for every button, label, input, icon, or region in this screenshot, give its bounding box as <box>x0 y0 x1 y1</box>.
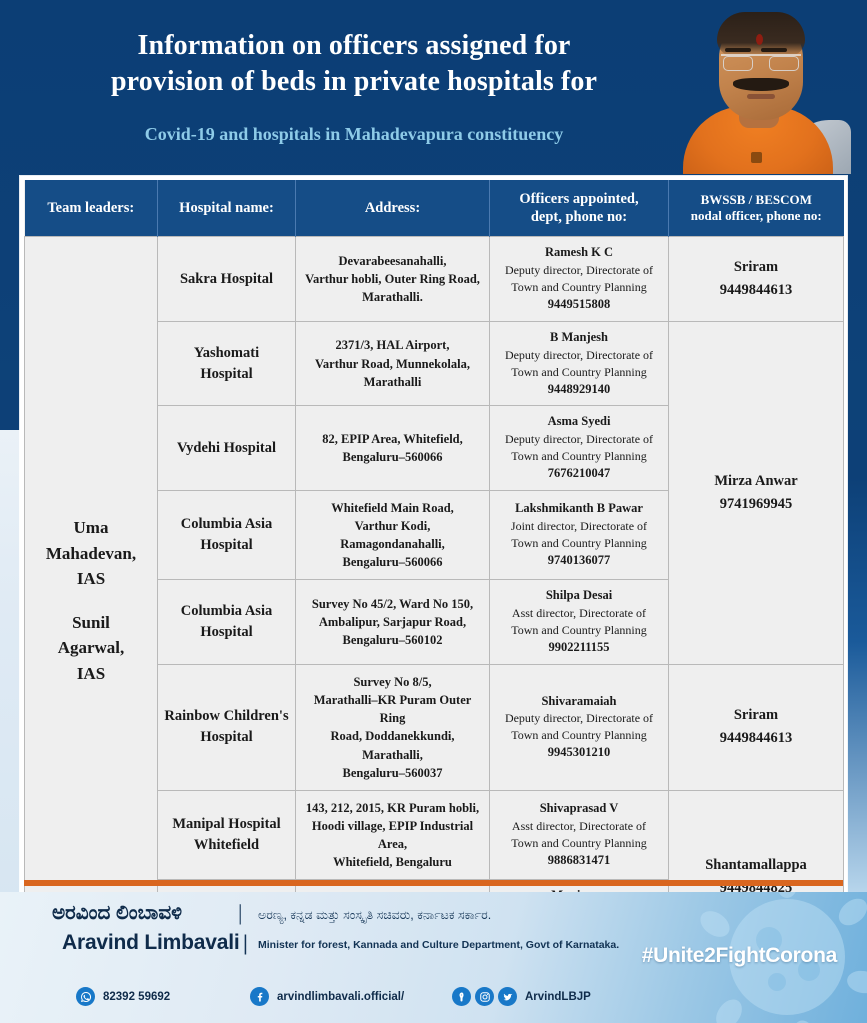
cell-hospital-name: Columbia Asia Hospital <box>158 490 296 580</box>
whatsapp-icon <box>76 987 95 1006</box>
officer-name: Asma Syedi <box>495 413 663 431</box>
column-header-team-leaders: Team leaders: <box>25 180 158 237</box>
column-header-nodal-officer: BWSSB / BESCOM nodal officer, phone no: <box>669 180 844 237</box>
officer-phone: 9902211155 <box>495 639 663 657</box>
contact-row: 82392 59692 arvindlimbavali.official/ <box>0 987 867 1017</box>
cell-hospital-name: Vydehi Hospital <box>158 406 296 491</box>
nodal-officer-name: Sriram <box>670 704 842 727</box>
column-header-address: Address: <box>296 180 490 237</box>
portrait-badge <box>751 152 762 163</box>
officer-dept-line2: Town and Country Planning <box>495 727 663 744</box>
officer-name: Ramesh K C <box>495 244 663 262</box>
cell-hospital-name: Yashomati Hospital <box>158 321 296 406</box>
table-row: Uma Mahadevan, IAS Sunil Agarwal, IAS Sa… <box>25 237 844 322</box>
officer-dept-line2: Town and Country Planning <box>495 835 663 852</box>
cell-nodal-officer: Mirza Anwar 9741969945 <box>669 321 844 664</box>
column-header-officers: Officers appointed, dept, phone no: <box>490 180 669 237</box>
cell-address: Devarabeesanahalli, Varthur hobli, Outer… <box>296 237 490 322</box>
footer: ಅರವಿಂದ ಲಿಂಬಾವಳಿ | ಅರಣ್ಯ, ಕನ್ನಡ ಮತ್ತು ಸಂಸ… <box>0 892 867 1023</box>
koo-icon <box>452 987 471 1006</box>
cell-hospital-name: Rainbow Children's Hospital <box>158 665 296 791</box>
portrait-eyebrow-right <box>761 48 787 52</box>
facebook-handle: arvindlimbavali.official/ <box>277 991 404 1003</box>
cell-address: Whitefield Main Road, Varthur Kodi, Rama… <box>296 490 490 580</box>
officer-dept-line2: Town and Country Planning <box>495 279 663 296</box>
cell-officer: Shivaramaiah Deputy director, Directorat… <box>490 665 669 791</box>
cell-nodal-officer: Sriram 9449844613 <box>669 237 844 322</box>
team-leader-1: Uma Mahadevan, IAS <box>26 515 156 592</box>
nodal-officer-name: Sriram <box>670 256 842 279</box>
footer-separator-bottom: | <box>243 930 248 956</box>
officer-dept-line2: Town and Country Planning <box>495 622 663 639</box>
officer-phone: 9740136077 <box>495 552 663 570</box>
cell-hospital-name: Columbia Asia Hospital <box>158 580 296 665</box>
minister-name-english: Aravind Limbavali <box>62 931 240 955</box>
cell-address: Survey No 8/5, Marathalli–KR Puram Outer… <box>296 665 490 791</box>
officer-phone: 9449515808 <box>495 296 663 314</box>
cell-officer: B Manjesh Deputy director, Directorate o… <box>490 321 669 406</box>
cell-officer: Ramesh K C Deputy director, Directorate … <box>490 237 669 322</box>
cell-hospital-name: Sakra Hospital <box>158 237 296 322</box>
officer-dept-line2: Town and Country Planning <box>495 364 663 381</box>
cell-address: Survey No 45/2, Ward No 150, Ambalipur, … <box>296 580 490 665</box>
officer-phone: 9945301210 <box>495 744 663 762</box>
portrait-glasses <box>721 54 801 69</box>
contact-facebook[interactable]: arvindlimbavali.official/ <box>250 987 404 1006</box>
officer-dept-line1: Deputy director, Directorate of <box>495 431 663 448</box>
orange-divider <box>24 880 843 886</box>
social-group-icon <box>452 987 517 1006</box>
officer-dept-line1: Joint director, Directorate of <box>495 518 663 535</box>
page-subtitle: Covid-19 and hospitals in Mahadevapura c… <box>34 124 674 145</box>
minister-name-kannada: ಅರವಿಂದ ಲಿಂಬಾವಳಿ <box>52 902 182 925</box>
officer-name: Shilpa Desai <box>495 587 663 605</box>
nodal-officer-name: Shantamallappa <box>670 854 842 877</box>
cell-address: 2371/3, HAL Airport, Varthur Road, Munne… <box>296 321 490 406</box>
portrait-tilak <box>756 34 763 45</box>
officer-name: Shivaramaiah <box>495 693 663 711</box>
cell-address: 143, 212, 2015, KR Puram hobli, Hoodi vi… <box>296 790 490 880</box>
team-leader-2: Sunil Agarwal, IAS <box>26 610 156 687</box>
column-header-hospital-name: Hospital name: <box>158 180 296 237</box>
minister-portrait <box>661 2 857 174</box>
table-header-row: Team leaders: Hospital name: Address: Of… <box>25 180 844 237</box>
portrait-moustache <box>733 78 789 91</box>
officer-dept-line2: Town and Country Planning <box>495 448 663 465</box>
page-title-line1: Information on officers assigned for <box>34 28 674 64</box>
officer-dept-line1: Deputy director, Directorate of <box>495 262 663 279</box>
officer-dept-line1: Deputy director, Directorate of <box>495 710 663 727</box>
cell-team-leaders: Uma Mahadevan, IAS Sunil Agarwal, IAS <box>25 237 158 965</box>
contact-whatsapp[interactable]: 82392 59692 <box>76 987 170 1006</box>
officer-dept-line1: Asst director, Directorate of <box>495 818 663 835</box>
cell-officer: Asma Syedi Deputy director, Directorate … <box>490 406 669 491</box>
cell-hospital-name: Manipal Hospital Whitefield <box>158 790 296 880</box>
footer-separator-top: | <box>238 900 242 926</box>
officer-name: Shivaprasad V <box>495 800 663 818</box>
nodal-officer-phone: 9449844613 <box>670 279 842 302</box>
data-table-card: Team leaders: Hospital name: Address: Of… <box>20 176 847 892</box>
facebook-icon <box>250 987 269 1006</box>
poster-root: Information on officers assigned for pro… <box>0 0 867 1023</box>
cell-officer: Shivaprasad V Asst director, Directorate… <box>490 790 669 880</box>
minister-designation-english: Minister for forest, Kannada and Culture… <box>258 939 619 951</box>
cell-officer: Shilpa Desai Asst director, Directorate … <box>490 580 669 665</box>
cell-nodal-officer: Sriram 9449844613 <box>669 665 844 791</box>
officer-name: B Manjesh <box>495 329 663 347</box>
portrait-mouth <box>747 94 775 99</box>
officer-dept-line1: Deputy director, Directorate of <box>495 347 663 364</box>
whatsapp-number: 82392 59692 <box>103 991 170 1003</box>
nodal-officer-phone: 9449844613 <box>670 727 842 750</box>
contact-social[interactable]: ArvindLBJP <box>452 987 591 1006</box>
cell-address: 82, EPIP Area, Whitefield, Bengaluru–560… <box>296 406 490 491</box>
officer-phone: 9448929140 <box>495 381 663 399</box>
officer-name: Lakshmikanth B Pawar <box>495 500 663 518</box>
twitter-icon <box>498 987 517 1006</box>
officer-dept-line1: Asst director, Directorate of <box>495 605 663 622</box>
officer-phone: 7676210047 <box>495 465 663 483</box>
officers-table: Team leaders: Hospital name: Address: Of… <box>24 180 844 965</box>
nodal-officer-phone: 9741969945 <box>670 493 842 516</box>
page-title-line2: provision of beds in private hospitals f… <box>34 64 674 100</box>
page-title: Information on officers assigned for pro… <box>34 28 674 100</box>
portrait-eyebrow-left <box>725 48 751 52</box>
cell-officer: Lakshmikanth B Pawar Joint director, Dir… <box>490 490 669 580</box>
officer-phone: 9886831471 <box>495 852 663 870</box>
campaign-hashtag: #Unite2FightCorona <box>642 944 837 968</box>
social-handle: ArvindLBJP <box>525 991 591 1003</box>
officer-dept-line2: Town and Country Planning <box>495 535 663 552</box>
minister-designation-kannada: ಅರಣ್ಯ, ಕನ್ನಡ ಮತ್ತು ಸಂಸ್ಕೃತಿ ಸಚಿವರು, ಕರ್ನ… <box>258 908 491 923</box>
nodal-officer-name: Mirza Anwar <box>670 470 842 493</box>
instagram-icon <box>475 987 494 1006</box>
